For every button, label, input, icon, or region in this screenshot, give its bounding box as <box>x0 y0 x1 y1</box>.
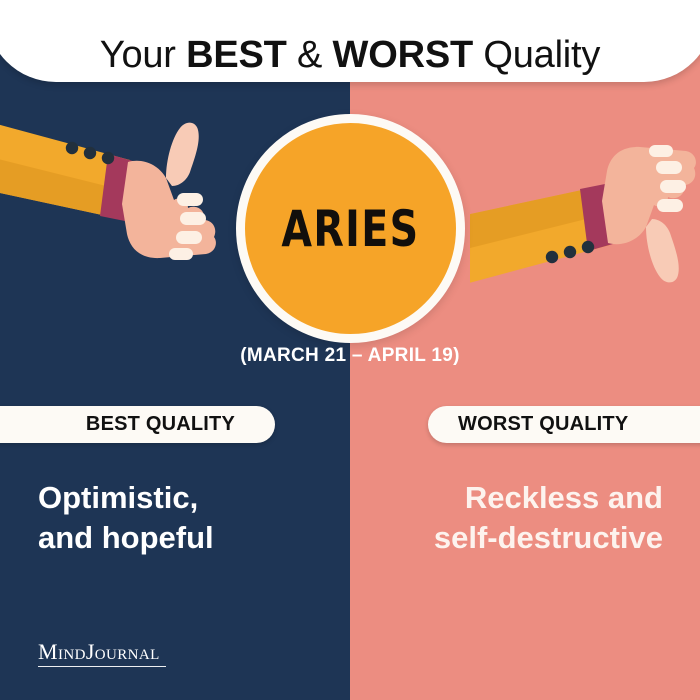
zodiac-sign-name: ARIES <box>281 204 419 254</box>
zodiac-sign-badge: ARIES <box>236 114 465 343</box>
best-quality-pill: BEST QUALITY <box>0 406 275 443</box>
zodiac-date-range: (MARCH 21 – APRIL 19) <box>0 345 700 367</box>
page-title: Your BEST & WORST Quality <box>100 36 600 74</box>
title-suffix: Quality <box>473 34 600 76</box>
title-prefix: Your <box>100 34 186 76</box>
worst-quality-pill: WORST QUALITY <box>428 406 700 443</box>
best-quality-label: BEST QUALITY <box>86 413 235 436</box>
thumbs-up-icon <box>0 100 240 305</box>
infographic-canvas: ARIES (MARCH 21 – APRIL 19) Your BEST & … <box>0 0 700 700</box>
title-best: BEST <box>186 34 287 76</box>
logo-wordmark: MindJournal <box>38 641 166 663</box>
logo-underline <box>38 666 166 667</box>
title-ampersand: & <box>287 34 333 76</box>
header-bar: Your BEST & WORST Quality <box>0 0 700 82</box>
title-worst: WORST <box>333 34 473 76</box>
worst-quality-description: Reckless and self-destructive <box>380 478 663 557</box>
mindjournal-logo: MindJournal <box>38 641 166 667</box>
best-quality-description: Optimistic, and hopeful <box>38 478 328 557</box>
worst-quality-label: WORST QUALITY <box>458 413 628 436</box>
thumbs-down-icon <box>470 95 700 310</box>
